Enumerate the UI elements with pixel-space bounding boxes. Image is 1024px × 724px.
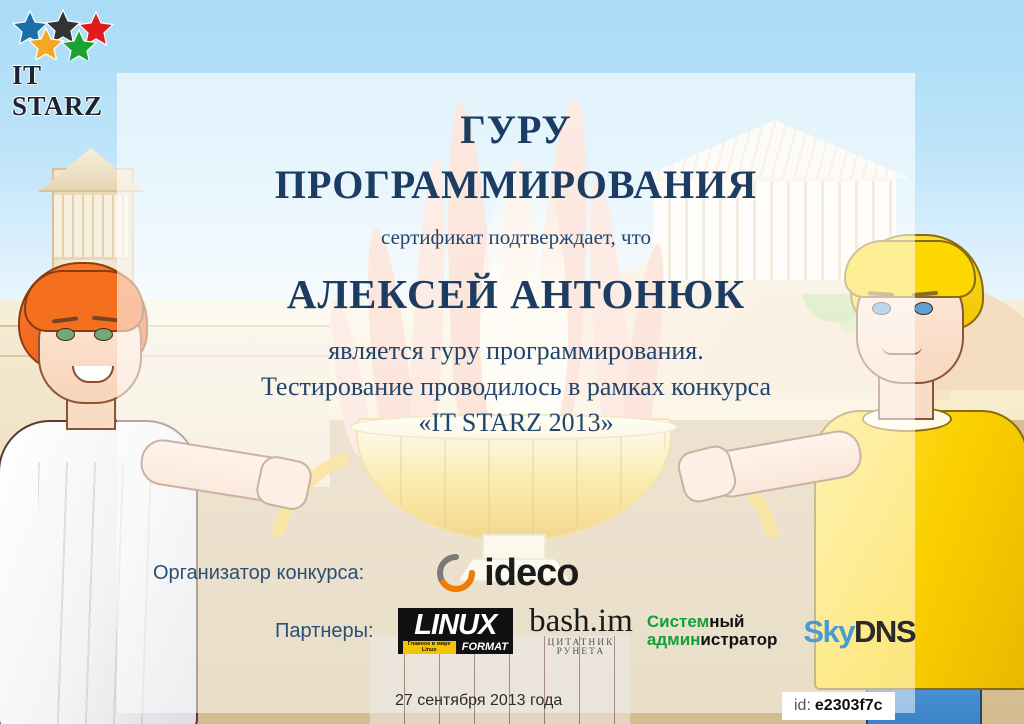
skydns-part-1: Sky: [803, 614, 854, 649]
partners-row: Партнеры: LINUX Главное в мире Linux FOR…: [275, 607, 915, 655]
it-starz-logo: IT STARZ: [8, 8, 118, 98]
skydns-part-2: DNS: [854, 614, 915, 649]
certificate-id-box: id:e2303f7c: [782, 692, 895, 720]
sysadmin-part-4: истратор: [700, 630, 777, 649]
ideco-wordmark: ideco: [484, 552, 578, 595]
body-line-1: является гуру программирования.: [117, 336, 915, 366]
stars-icon: [8, 8, 118, 60]
organizer-row: Организатор конкурса: ideco: [153, 551, 653, 595]
linux-format-sub: FORMAT: [456, 642, 508, 653]
ideco-swirl-icon: [436, 553, 476, 593]
bash-im-logo: bash.im ЦИТАТНИК РУНЕТА: [527, 605, 635, 658]
recipient-name: АЛЕКСЕЙ АНТОНЮК: [117, 270, 915, 318]
organizer-label: Организатор конкурса:: [153, 562, 364, 585]
certificate-id-value: e2303f7c: [815, 697, 883, 714]
body-line-3: «IT STARZ 2013»: [117, 408, 915, 438]
sysadmin-part-1: Систем: [647, 612, 709, 631]
logo-wordmark: IT STARZ: [12, 60, 118, 122]
bash-im-sub: ЦИТАТНИК РУНЕТА: [527, 639, 635, 658]
body-line-2: Тестирование проводилось в рамках конкур…: [117, 372, 915, 402]
linux-format-logo: LINUX Главное в мире Linux FORMAT: [398, 608, 513, 654]
issue-date: 27 сентября 2013 года: [395, 692, 562, 710]
ideco-logo: ideco: [436, 552, 578, 595]
partners-label: Партнеры:: [275, 620, 374, 643]
sysadmin-part-2: ный: [709, 612, 744, 631]
certificate-canvas: IT STARZ ГУРУ ПРОГРАММИРОВАНИЯ сертифика…: [0, 0, 1024, 724]
skydns-logo: SkyDNS: [803, 616, 915, 647]
bash-im-name: bash.im: [527, 605, 635, 638]
linux-format-tagline: Главное в мире Linux: [403, 641, 456, 654]
sysadmin-logo: Системный администратор: [647, 613, 778, 650]
certificate-subtitle: сертификат подтверждает, что: [117, 225, 915, 250]
certificate-text-block: ГУРУ ПРОГРАММИРОВАНИЯ сертификат подтвер…: [117, 73, 915, 713]
title-line-1: ГУРУ: [117, 106, 915, 153]
sysadmin-part-3: админ: [647, 630, 701, 649]
title-line-2: ПРОГРАММИРОВАНИЯ: [117, 161, 915, 208]
certificate-id-label: id:: [794, 697, 811, 714]
linux-format-name: LINUX: [414, 609, 496, 641]
